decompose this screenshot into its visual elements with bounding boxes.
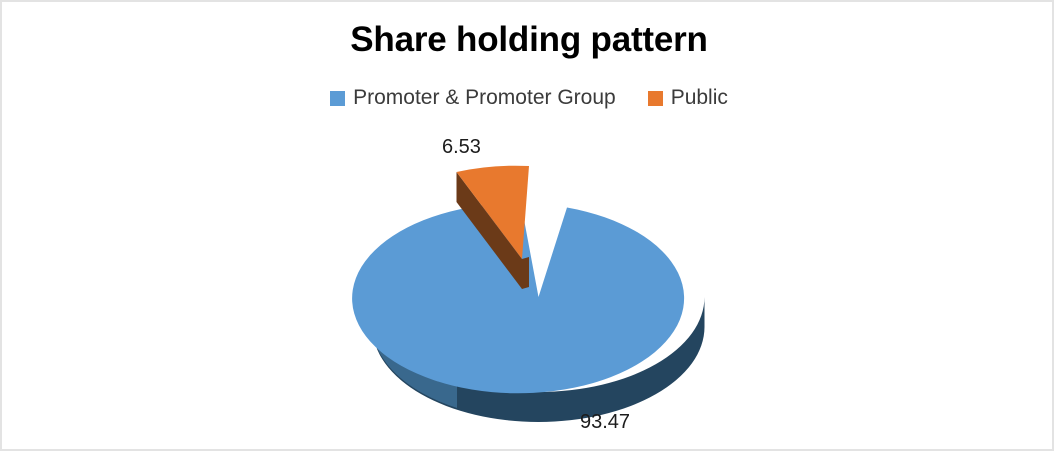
pie-slice-public-side-front (522, 257, 529, 289)
pie-chart-plot (2, 2, 1054, 451)
data-label-promoter: 93.47 (580, 411, 630, 434)
data-label-public: 6.53 (442, 136, 481, 159)
chart-container: Share holding pattern Promoter & Promote… (0, 0, 1054, 451)
